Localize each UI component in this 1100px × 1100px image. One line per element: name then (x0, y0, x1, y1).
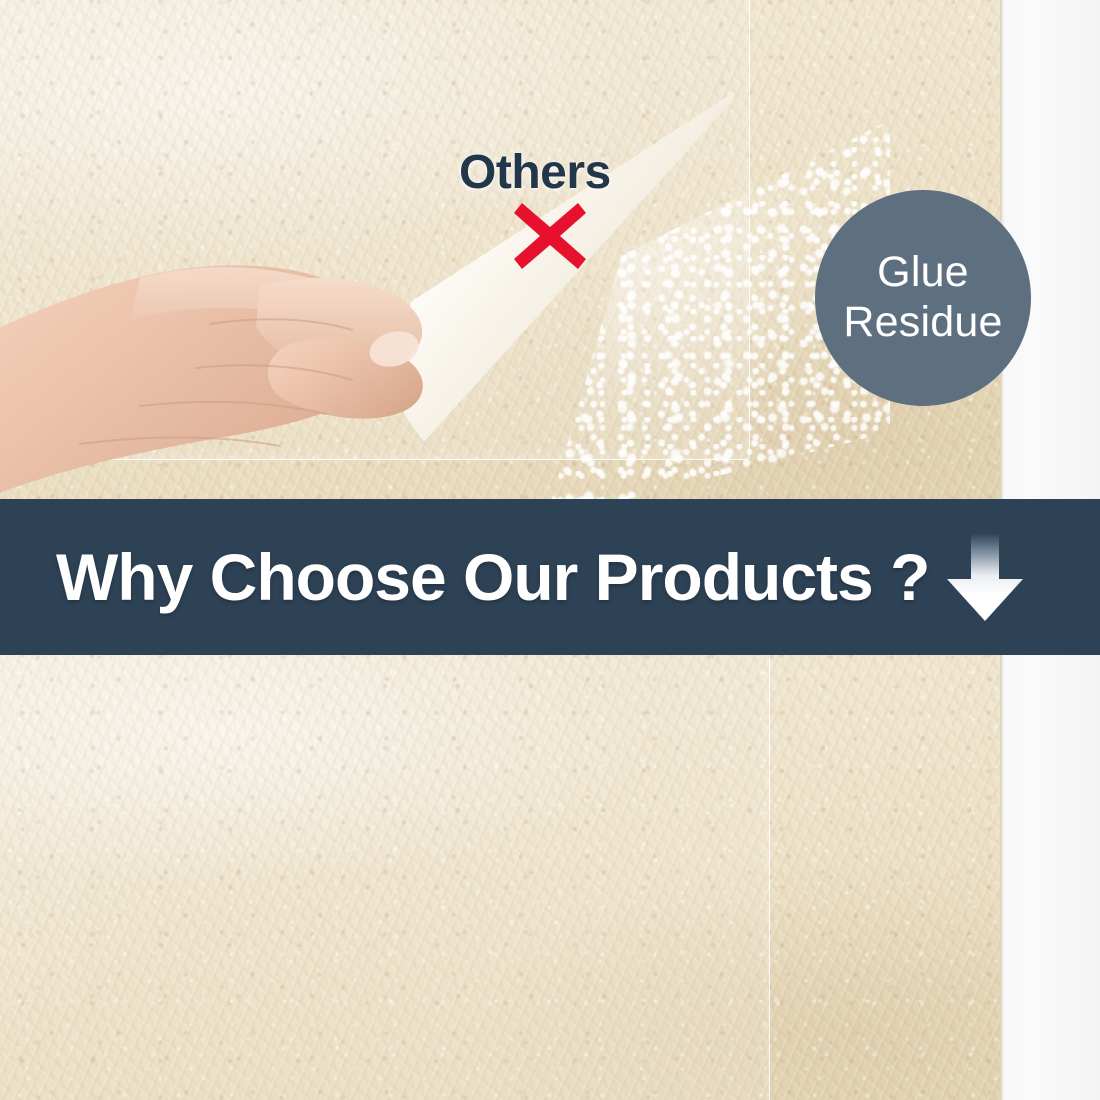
adhesive-film-sheet (0, 655, 770, 1100)
banner-title: Why Choose Our Products ? (56, 539, 929, 615)
red-cross-icon (513, 200, 587, 272)
feature-badge-glue-residue: Glue Residue (815, 190, 1031, 406)
wall-photo-ours: Ours (0, 655, 1002, 1100)
hand-peeling-film-icon (0, 118, 480, 499)
photo-right-margin-ours (1000, 655, 1100, 1100)
comparison-panel-others: Others Glue Residue (0, 0, 1100, 499)
headline-banner: Why Choose Our Products ? (0, 499, 1100, 655)
comparison-panel-ours: Ours Leave No Trace (0, 655, 1100, 1100)
feature-badge-glue-residue-text: Glue Residue (843, 248, 1002, 348)
comparison-label-others: Others (459, 145, 611, 200)
arrow-down-icon (943, 531, 1027, 623)
product-comparison-infographic: Others Glue Residue Why Choose Our Produ… (0, 0, 1100, 1100)
